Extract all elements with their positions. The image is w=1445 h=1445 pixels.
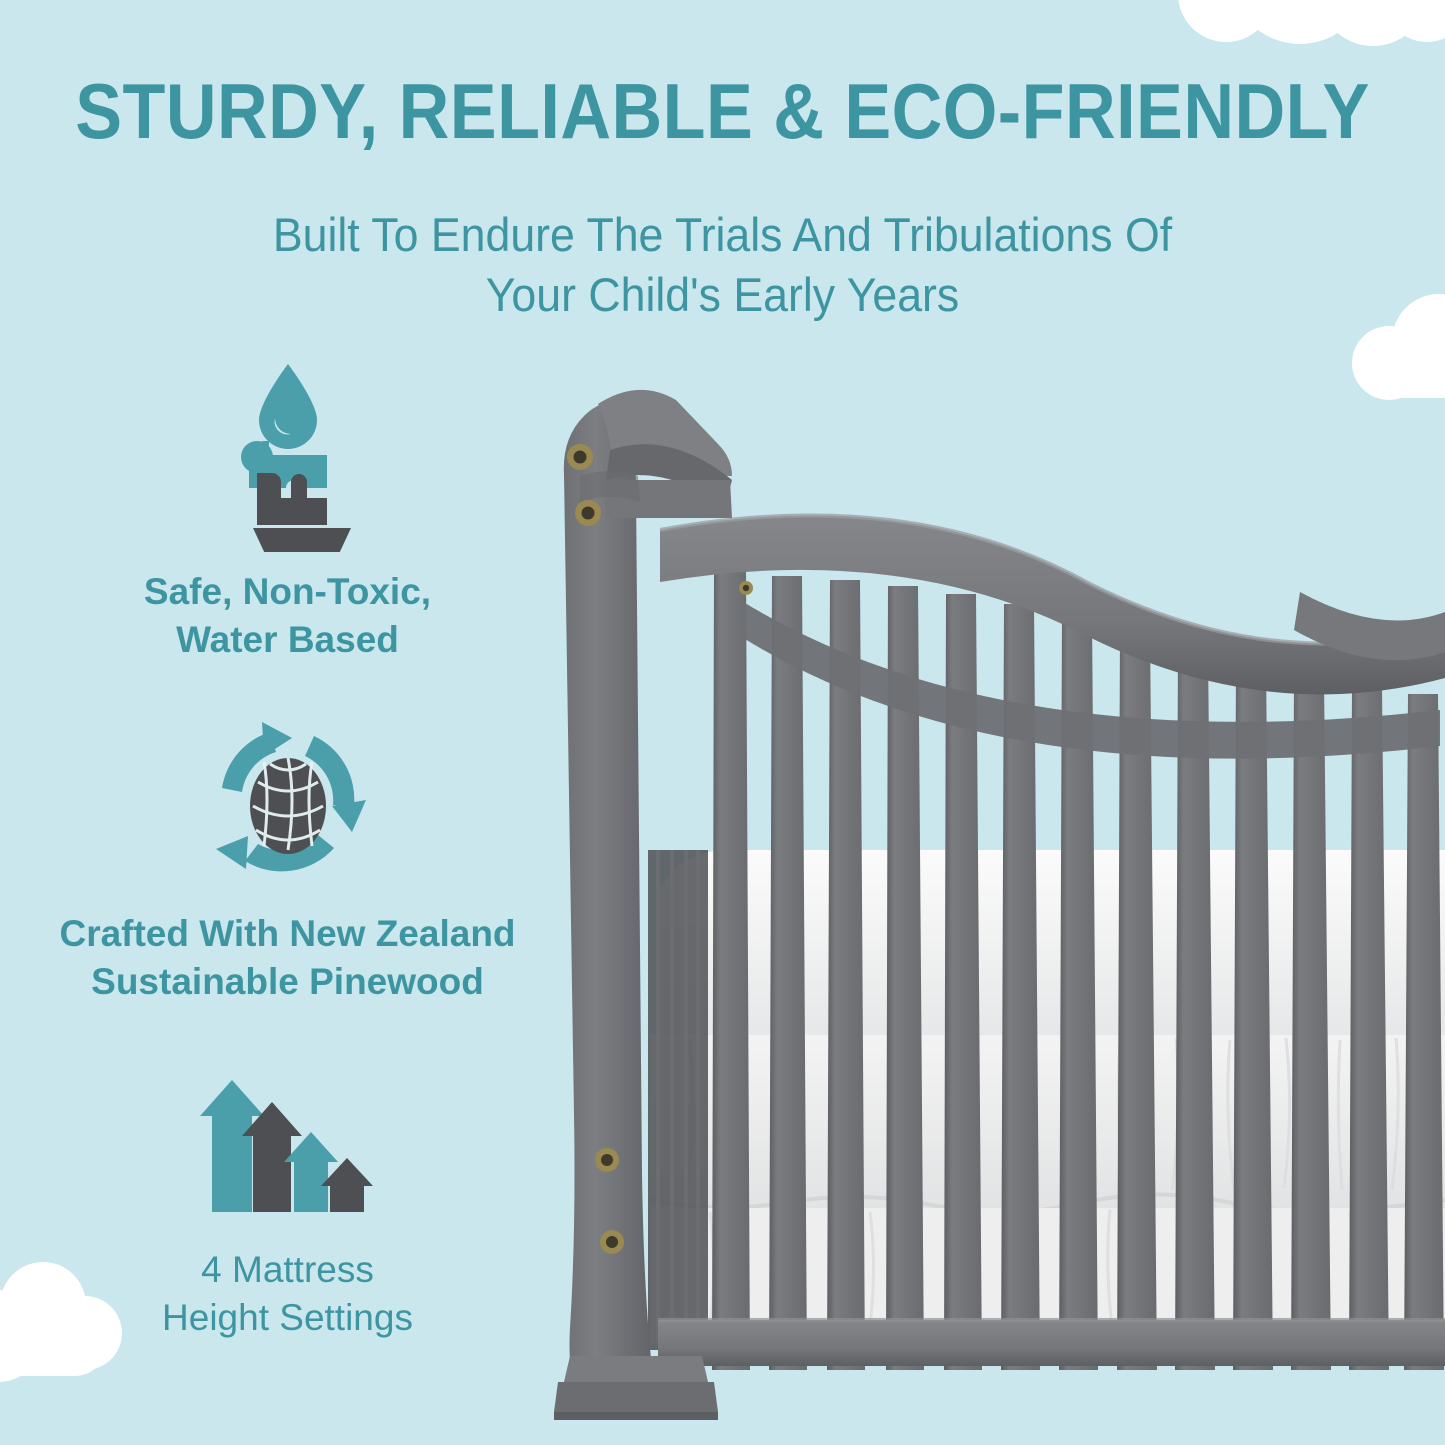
cloud-top-right xyxy=(1178,0,1445,66)
subtitle-line-2: Your Child's Early Years xyxy=(36,265,1409,325)
crib-lower-rail xyxy=(658,1320,1445,1366)
feature-label-safe-non-toxic: Safe, Non-Toxic, Water Based xyxy=(0,568,575,664)
crib-foot xyxy=(554,1356,718,1420)
recycling-pinecone-icon xyxy=(198,714,378,894)
paintbrush-water-drop-icon xyxy=(213,352,363,552)
page-title: STURDY, RELIABLE & ECO-FRIENDLY xyxy=(72,66,1373,157)
subtitle-line-1: Built To Endure The Trials And Tribulati… xyxy=(36,205,1409,265)
feature-list: Safe, Non-Toxic, Water Based xyxy=(0,352,575,1370)
feature-label-mattress-heights: 4 Mattress Height Settings xyxy=(0,1246,575,1342)
promo-banner: STURDY, RELIABLE & ECO-FRIENDLY Built To… xyxy=(0,0,1445,1445)
product-image-crib xyxy=(540,380,1445,1445)
feature-label-sustainable-pinewood: Crafted With New Zealand Sustainable Pin… xyxy=(0,910,575,1006)
feature-item-mattress-heights: 4 Mattress Height Settings xyxy=(0,1070,575,1370)
page-subtitle: Built To Endure The Trials And Tribulati… xyxy=(36,205,1409,325)
descending-arrows-icon xyxy=(198,1070,378,1230)
feature-item-safe-non-toxic: Safe, Non-Toxic, Water Based xyxy=(0,352,575,672)
feature-item-sustainable-pinewood: Crafted With New Zealand Sustainable Pin… xyxy=(0,714,575,1034)
